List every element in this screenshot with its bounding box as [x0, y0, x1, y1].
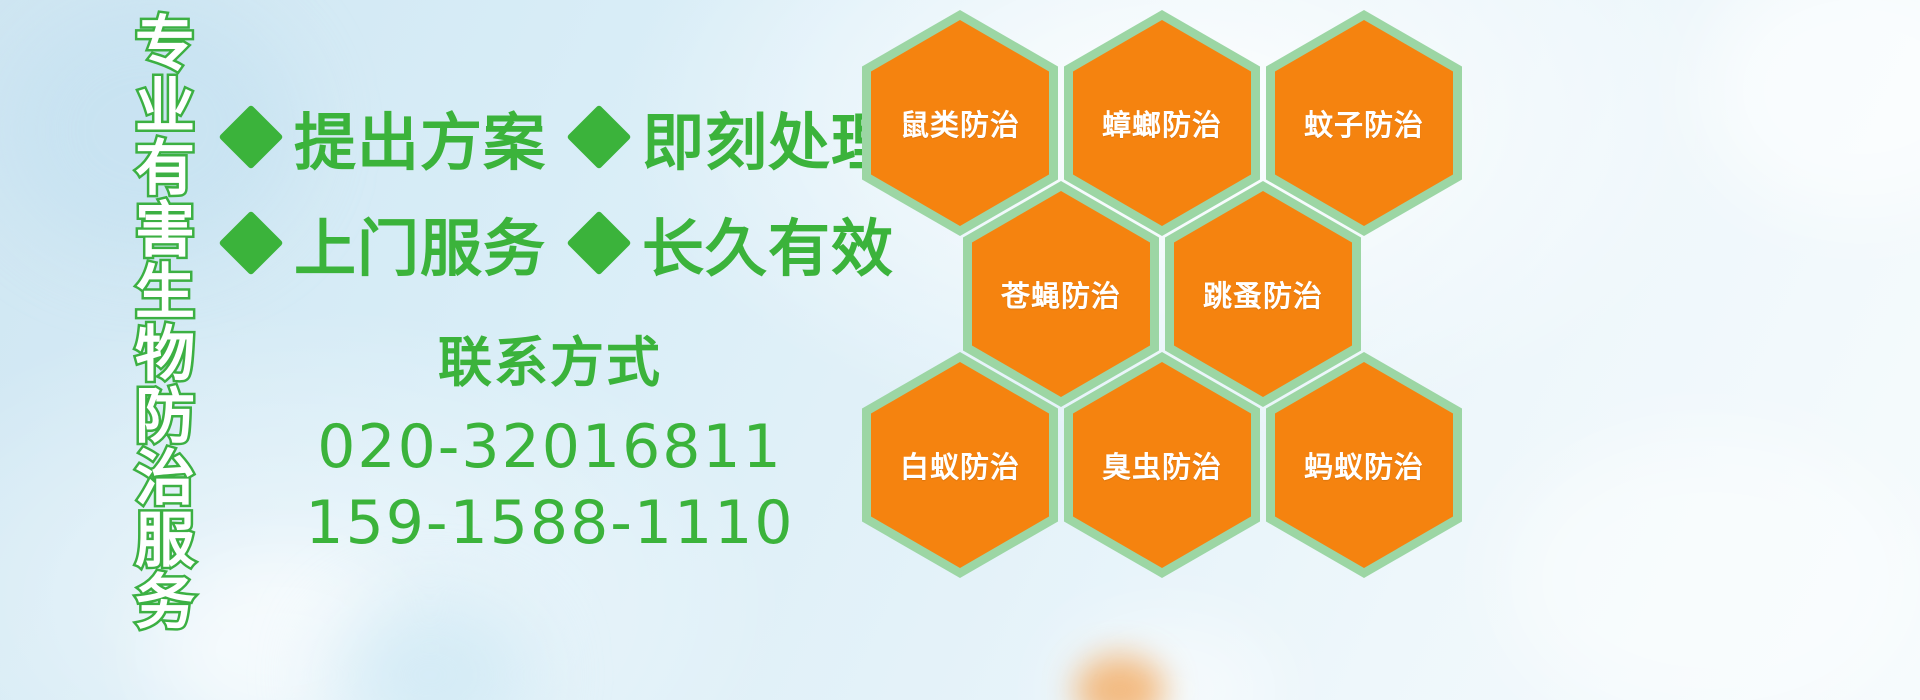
feature-label: 长久有效: [642, 198, 894, 288]
vertical-title-char: 服: [135, 510, 195, 572]
pest-control-banner: 专 业 有 害 生 物 防 治 服 务 提出方案 即刻处理 上门服务 长久有效: [0, 0, 1920, 700]
background-blob: [1700, 0, 1920, 220]
service-hex-inner: 苍蝇防治: [972, 191, 1150, 397]
feature-label: 即刻处理: [642, 92, 894, 182]
vertical-title-char: 业: [135, 76, 195, 138]
service-hex-inner: 臭虫防治: [1073, 362, 1251, 568]
service-hex-inner: 白蚁防治: [871, 362, 1049, 568]
vertical-title-char: 务: [135, 572, 195, 634]
diamond-icon: [566, 104, 631, 169]
vertical-title-char: 害: [135, 200, 195, 262]
vertical-title-char: 有: [135, 138, 195, 200]
service-label: 蚂蚁防治: [1304, 444, 1424, 486]
service-hex-inner: 蟑螂防治: [1073, 20, 1251, 226]
service-label: 鼠类防治: [900, 102, 1020, 144]
service-label: 臭虫防治: [1102, 444, 1222, 486]
background-blob: [1500, 430, 1920, 700]
service-honeycomb: 鼠类防治 蟑螂防治 蚊子防治 苍蝇防治 跳蚤防治 白蚁防治: [862, 0, 1462, 590]
feature-label: 提出方案: [294, 92, 546, 182]
service-label: 苍蝇防治: [1001, 273, 1121, 315]
contact-title: 联系方式: [240, 318, 860, 397]
feature-row-1: 提出方案 即刻处理: [228, 92, 894, 182]
background-blob: [330, 600, 530, 700]
service-label: 跳蚤防治: [1203, 273, 1323, 315]
service-hex-inner: 蚂蚁防治: [1275, 362, 1453, 568]
feature-label: 上门服务: [294, 198, 546, 288]
vertical-title-char: 专: [135, 14, 195, 76]
vertical-title-char: 物: [135, 324, 195, 386]
feature-item: 上门服务: [228, 198, 546, 288]
diamond-icon: [566, 210, 631, 275]
diamond-icon: [218, 210, 283, 275]
feature-row-2: 上门服务 长久有效: [228, 198, 894, 288]
vertical-title-char: 治: [135, 448, 195, 510]
service-hex-inner: 蚊子防治: [1275, 20, 1453, 226]
vertical-title-char: 防: [135, 386, 195, 448]
feature-item: 即刻处理: [576, 92, 894, 182]
vertical-brand-title: 专 业 有 害 生 物 防 治 服 务: [105, 14, 225, 634]
service-label: 蟑螂防治: [1102, 102, 1222, 144]
phone-landline[interactable]: 020-32016811: [240, 409, 860, 485]
feature-item: 长久有效: [576, 198, 894, 288]
contact-block: 联系方式 020-32016811 159-1588-1110: [240, 318, 860, 561]
background-blob: [1075, 655, 1165, 700]
vertical-title-char: 生: [135, 262, 195, 324]
feature-item: 提出方案: [228, 92, 546, 182]
service-hex-inner: 鼠类防治: [871, 20, 1049, 226]
service-hex-inner: 跳蚤防治: [1174, 191, 1352, 397]
diamond-icon: [218, 104, 283, 169]
service-label: 白蚁防治: [900, 444, 1020, 486]
service-label: 蚊子防治: [1304, 102, 1424, 144]
phone-mobile[interactable]: 159-1588-1110: [240, 485, 860, 561]
